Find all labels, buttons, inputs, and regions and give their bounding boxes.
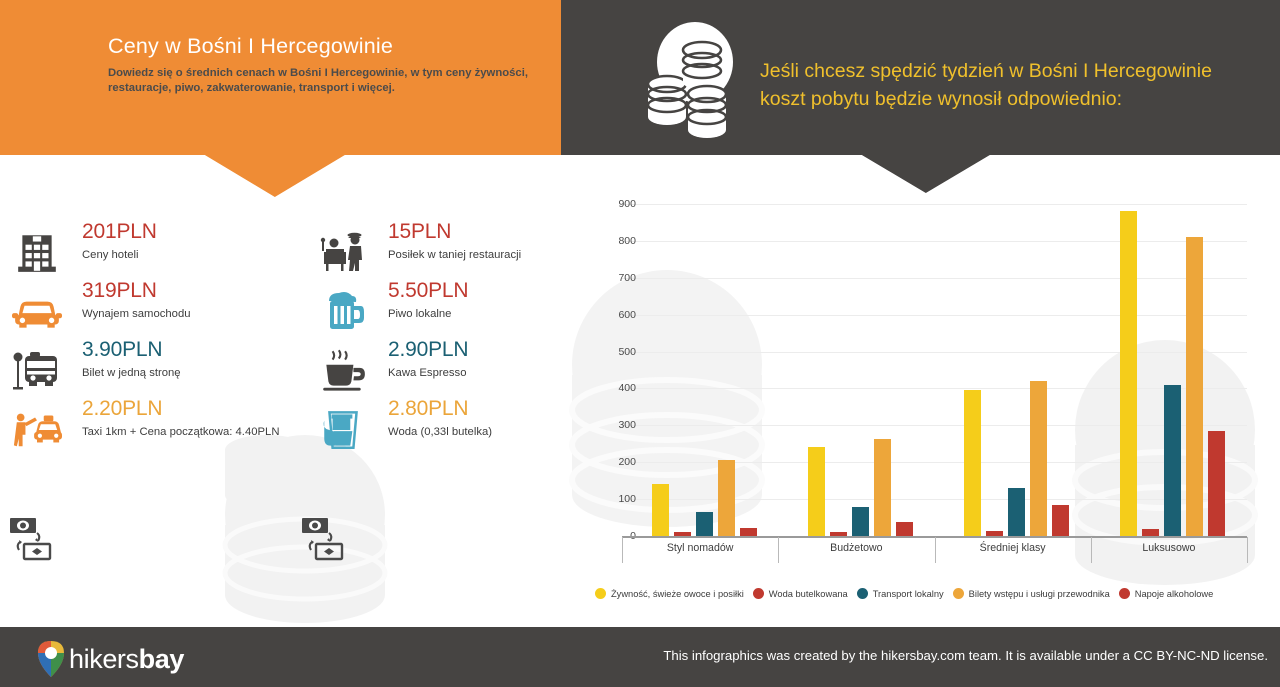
chart-bar: [652, 484, 669, 536]
legend-swatch-icon: [753, 588, 764, 599]
logo-text-light: hikers: [69, 644, 139, 674]
legend-swatch-icon: [1119, 588, 1130, 599]
price-label: Taxi 1km + Cena początkowa: 4.40PLN: [82, 426, 280, 438]
legend-item[interactable]: Transport lokalny: [857, 588, 944, 599]
orange-header-pointer: [205, 155, 345, 197]
chart-bar: [1120, 211, 1137, 536]
coins-icon: [640, 22, 750, 142]
price-value: 5.50PLN: [388, 279, 468, 303]
logo-text-bold: bay: [139, 644, 184, 674]
price-label: Ceny hoteli: [82, 249, 139, 261]
footer-credit: This infographics was created by the hik…: [663, 648, 1268, 663]
chart-bar: [1186, 237, 1203, 536]
page-subtitle: Dowiedz się o średnich cenach w Bośni I …: [108, 66, 538, 95]
money-exchange-icon: [298, 512, 352, 566]
legend-item[interactable]: Bilety wstępu i usługi przewodnika: [953, 588, 1110, 599]
x-axis-separator: [778, 537, 779, 563]
price-label: Posiłek w taniej restauracji: [388, 249, 521, 261]
legend-swatch-icon: [595, 588, 606, 599]
price-label: Kawa Espresso: [388, 367, 467, 379]
beer-icon: [318, 288, 368, 334]
money-exchange-icon: [6, 512, 60, 566]
restaurant-icon: [318, 229, 368, 275]
price-value: 201PLN: [82, 220, 157, 244]
legend-label: Żywność, świeże owoce i posiłki: [611, 589, 744, 599]
x-axis-category-label: Styl nomadów: [622, 542, 778, 554]
price-value: 319PLN: [82, 279, 157, 303]
dark-header-title: Jeśli chcesz spędzić tydzień w Bośni I H…: [760, 57, 1250, 113]
x-axis-separator: [622, 537, 623, 563]
water-icon: [318, 406, 368, 452]
chart-bar: [852, 507, 869, 537]
price-value: 2.90PLN: [388, 338, 468, 362]
chart-bar: [1052, 505, 1069, 536]
bus-icon: [12, 347, 62, 393]
price-value: 15PLN: [388, 220, 451, 244]
chart-plot-area: [622, 204, 1247, 536]
hikersbay-logo[interactable]: hikersbay: [36, 640, 184, 678]
legend-item[interactable]: Napoje alkoholowe: [1119, 588, 1214, 599]
legend-label: Napoje alkoholowe: [1135, 589, 1214, 599]
page-title: Ceny w Bośni I Hercegowinie: [108, 34, 548, 59]
price-item-coffee: 2.90PLN Kawa Espresso: [318, 343, 588, 405]
price-label: Bilet w jedną stronę: [82, 367, 181, 379]
chart-legend: Żywność, świeże owoce i posiłkiWoda bute…: [595, 588, 1280, 599]
legend-label: Transport lokalny: [873, 589, 944, 599]
footer-bar: hikersbay This infographics was created …: [0, 627, 1280, 687]
price-item-beer: 5.50PLN Piwo lokalne: [318, 284, 588, 346]
chart-bar: [964, 390, 981, 536]
logo-text: hikersbay: [69, 644, 184, 675]
chart-bar: [1142, 529, 1159, 536]
legend-item[interactable]: Woda butelkowana: [753, 588, 848, 599]
chart-bar: [696, 512, 713, 536]
infographic-page: Ceny w Bośni I Hercegowinie Dowiedz się …: [0, 0, 1280, 687]
chart-bar: [718, 460, 735, 536]
price-value: 2.20PLN: [82, 397, 162, 421]
price-item-taxi: 2.20PLN Taxi 1km + Cena początkowa: 4.40…: [12, 402, 282, 464]
price-item-bus-ticket: 3.90PLN Bilet w jedną stronę: [12, 343, 282, 405]
chart-bar: [1030, 381, 1047, 536]
coffee-icon: [318, 347, 368, 393]
chart-bar: [1208, 431, 1225, 536]
chart-bar: [740, 528, 757, 536]
price-value: 2.80PLN: [388, 397, 468, 421]
price-item-car-rental: 319PLN Wynajem samochodu: [12, 284, 282, 346]
x-axis-category-label: Luksusowo: [1091, 542, 1247, 554]
legend-swatch-icon: [953, 588, 964, 599]
x-axis-category-label: Budżetowo: [778, 542, 934, 554]
chart-bar: [874, 439, 891, 536]
chart-bar: [1164, 385, 1181, 536]
price-item-restaurant-meal: 15PLN Posiłek w taniej restauracji: [318, 225, 588, 287]
price-label: Woda (0,33l butelka): [388, 426, 492, 438]
car-icon: [12, 288, 62, 334]
bar-chart: 0100200300400500600700800900 Styl nomadó…: [560, 190, 1280, 620]
dark-header-pointer: [862, 155, 990, 193]
x-axis-separator: [1247, 537, 1248, 563]
legend-swatch-icon: [857, 588, 868, 599]
chart-bar: [808, 447, 825, 536]
price-label: Wynajem samochodu: [82, 308, 191, 320]
legend-label: Bilety wstępu i usługi przewodnika: [969, 589, 1110, 599]
price-item-water: 2.80PLN Woda (0,33l butelka): [318, 402, 588, 464]
chart-bar: [1008, 488, 1025, 536]
x-axis-separator: [1091, 537, 1092, 563]
x-axis-category-label: Średniej klasy: [935, 542, 1091, 554]
taxi-icon: [12, 406, 62, 452]
x-axis-separator: [935, 537, 936, 563]
legend-label: Woda butelkowana: [769, 589, 848, 599]
price-value: 3.90PLN: [82, 338, 162, 362]
map-pin-icon: [36, 640, 66, 678]
legend-item[interactable]: Żywność, świeże owoce i posiłki: [595, 588, 744, 599]
chart-bar: [896, 522, 913, 536]
hotel-icon: [12, 229, 62, 275]
price-item-hotel: 201PLN Ceny hoteli: [12, 225, 282, 287]
price-label: Piwo lokalne: [388, 308, 451, 320]
